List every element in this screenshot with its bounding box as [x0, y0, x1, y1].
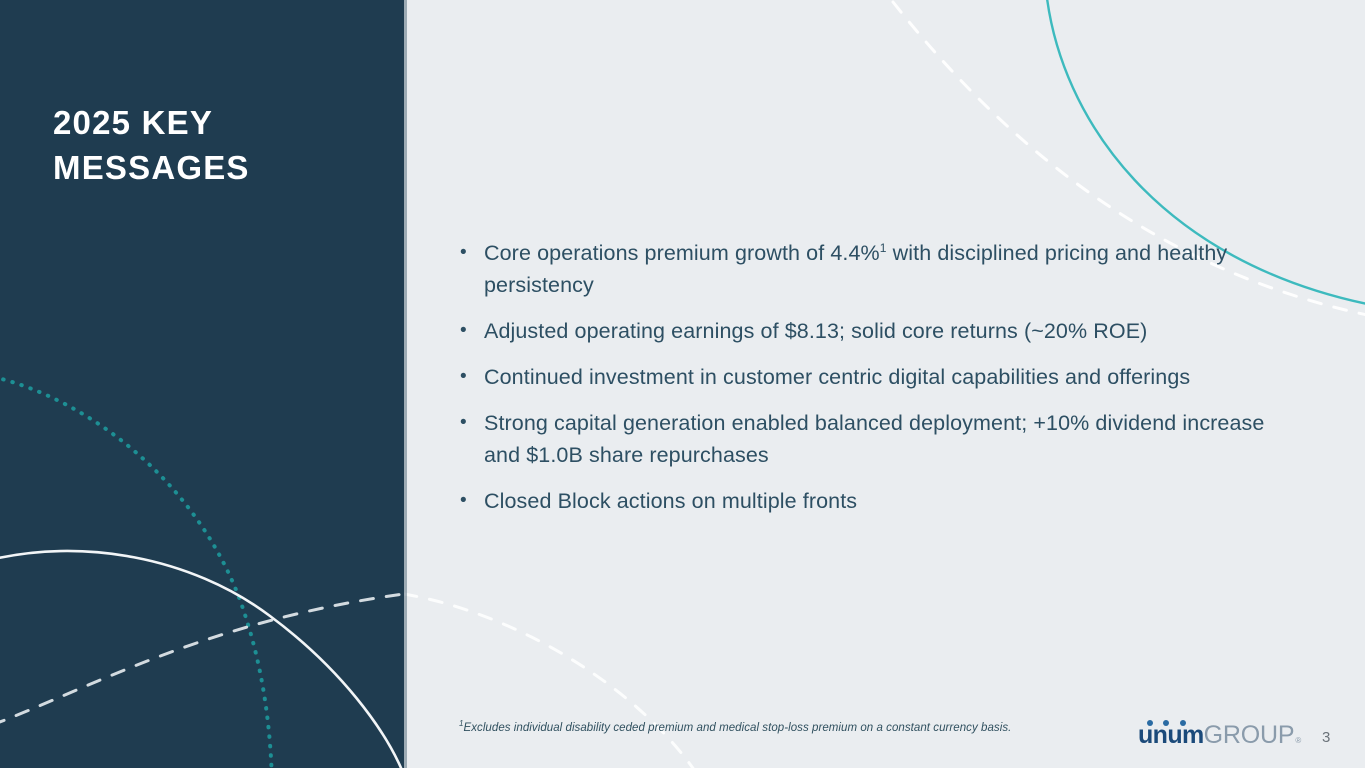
- list-item-text-before: Core operations premium growth of 4.4%: [484, 241, 880, 265]
- logo-group-text: GROUP: [1204, 722, 1295, 748]
- teal-dotted-arc: [0, 377, 272, 768]
- logo-wordmark-unum: unum: [1138, 722, 1204, 748]
- list-item-text: Strong capital generation enabled balanc…: [484, 407, 1285, 471]
- list-item: • Continued investment in customer centr…: [455, 361, 1285, 393]
- panel-divider: [404, 0, 407, 768]
- page-number: 3: [1322, 729, 1330, 746]
- list-item-text: Continued investment in customer centric…: [484, 361, 1285, 393]
- page-title: 2025 KEY MESSAGES: [53, 100, 373, 190]
- left-title-panel: 2025 KEY MESSAGES: [0, 0, 404, 768]
- bullet-marker-icon: •: [455, 485, 484, 517]
- list-item-text: Closed Block actions on multiple fronts: [484, 485, 1285, 517]
- list-item-text: Core operations premium growth of 4.4%1 …: [484, 237, 1285, 301]
- list-item: • Strong capital generation enabled bala…: [455, 407, 1285, 471]
- bullet-marker-icon: •: [455, 361, 484, 393]
- list-item: • Closed Block actions on multiple front…: [455, 485, 1285, 517]
- list-item-text: Adjusted operating earnings of $8.13; so…: [484, 315, 1285, 347]
- dashed-arc-bottom-left-extension: [404, 594, 697, 768]
- logo-dots-icon: [1147, 720, 1195, 728]
- bullet-marker-icon: •: [455, 315, 484, 347]
- slide-canvas: 2025 KEY MESSAGES • Core operations prem…: [0, 0, 1365, 768]
- bullet-marker-icon: •: [455, 237, 484, 269]
- footnote: 1Excludes individual disability ceded pr…: [459, 722, 1011, 734]
- bullet-marker-icon: •: [455, 407, 484, 439]
- footnote-ref-superscript: 1: [880, 241, 887, 255]
- list-item: • Adjusted operating earnings of $8.13; …: [455, 315, 1285, 347]
- footnote-text: Excludes individual disability ceded pre…: [464, 722, 1012, 734]
- list-item: • Core operations premium growth of 4.4%…: [455, 237, 1285, 301]
- key-messages-list: • Core operations premium growth of 4.4%…: [455, 237, 1285, 531]
- unum-group-logo: unumGROUP®: [1138, 722, 1301, 748]
- white-dashed-arc: [0, 594, 404, 725]
- white-solid-arc: [0, 551, 404, 768]
